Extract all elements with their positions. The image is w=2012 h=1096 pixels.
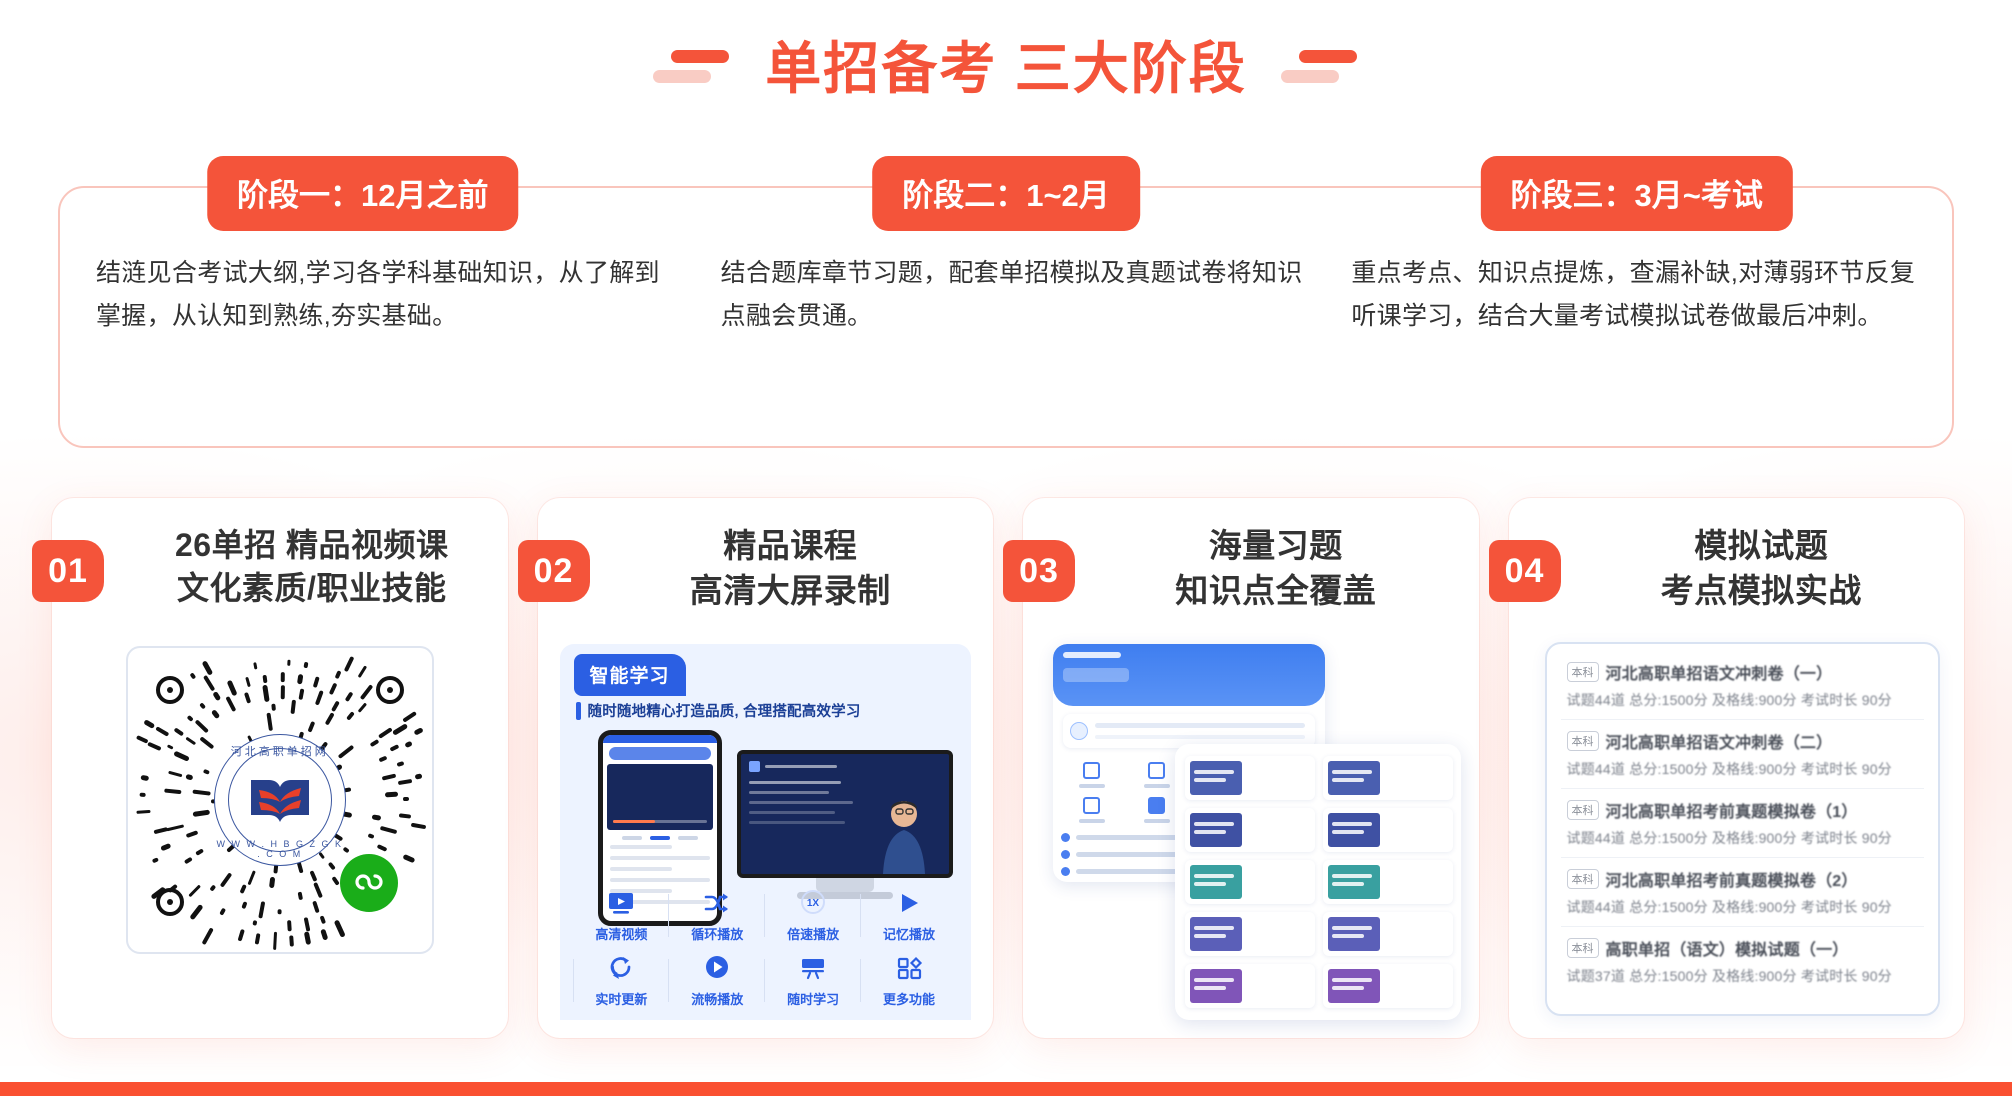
feature-live-update[interactable]: 实时更新 xyxy=(574,953,670,1008)
shortcut-item xyxy=(1059,797,1124,823)
promo-page: 单招备考 三大阶段 阶段一：12月之前 结涟见合考试大纲,学习各学科基础知识，从… xyxy=(0,0,2012,1096)
qr-brand-url: W W W . H B G Z G K . C O M xyxy=(215,839,345,859)
paper-meta: 试题44道 总分:1500分 及格线:900分 考试时长 90分 xyxy=(1567,759,1919,779)
feature-label: 更多功能 xyxy=(883,989,935,1008)
stage-1-pill: 阶段一：12月之前 xyxy=(207,156,518,231)
speed-1x-icon: 1X xyxy=(798,888,828,918)
phone-statusbar xyxy=(603,735,717,743)
feature-card-01[interactable]: 01 26单招 精品视频课 文化素质/职业技能 河北高职单招网 W W W . … xyxy=(52,498,508,1038)
card-03-line1: 海量习题 xyxy=(1209,527,1343,564)
list-icon xyxy=(1083,762,1100,779)
stage-item-2: 阶段二：1~2月 结合题库章节习题，配套单招模拟及真题试卷将知识点融会贯通。 xyxy=(691,188,1322,446)
paper-thumbnail xyxy=(1190,969,1242,1003)
promo-subtitle: 随时随地精心打造品质, 合理搭配高效学习 xyxy=(588,700,861,721)
stage-3-pill: 阶段三：3月~考试 xyxy=(1481,156,1793,231)
paper-level-tag: 本科 xyxy=(1567,869,1599,889)
feature-smooth-play[interactable]: 流畅播放 xyxy=(669,953,765,1008)
feature-label: 流畅播放 xyxy=(691,989,743,1008)
paper-meta: 试题37道 总分:1500分 及格线:900分 考试时长 90分 xyxy=(1567,966,1919,986)
paper-thumbnail xyxy=(1190,865,1242,899)
promo-subtitle-row: 随时随地精心打造品质, 合理搭配高效学习 xyxy=(576,700,964,721)
feature-label: 随时学习 xyxy=(787,989,839,1008)
double-dash-decoration-left xyxy=(653,44,731,86)
footer-accent-bar xyxy=(0,1082,2012,1096)
card-01-line2: 文化素质/职业技能 xyxy=(126,567,498,610)
exam-paper-cell xyxy=(1185,756,1315,800)
hd-video-icon xyxy=(606,888,636,918)
exam-paper-cell xyxy=(1185,912,1315,956)
paper-level-tag: 本科 xyxy=(1567,800,1599,820)
stage-2-description: 结合题库章节习题，配套单招模拟及真题试卷将知识点融会贯通。 xyxy=(721,252,1304,338)
library-icon xyxy=(1083,797,1100,814)
card-02-line2: 高清大屏录制 xyxy=(604,569,978,614)
note-icon xyxy=(1148,762,1165,779)
feature-loop-play[interactable]: 循环播放 xyxy=(669,888,765,943)
stage-item-3: 阶段三：3月~考试 重点考点、知识点提炼，查漏补缺,对薄弱环节反复听课学习，结合… xyxy=(1321,188,1952,446)
feature-card-02[interactable]: 02 精品课程 高清大屏录制 智能学习 随时随地精心打造品质, 合理搭配高效学习 xyxy=(538,498,994,1038)
dot-square-icon xyxy=(1148,797,1165,814)
exam-paper-cell xyxy=(1185,964,1315,1008)
paper-level-tag: 本科 xyxy=(1567,938,1599,958)
slide-icon xyxy=(749,761,760,772)
open-book-logo-icon xyxy=(249,776,311,824)
card-04-line2: 考点模拟实战 xyxy=(1575,569,1949,614)
card-02-heading: 精品课程 高清大屏录制 xyxy=(604,524,978,613)
feature-label: 实时更新 xyxy=(595,989,647,1008)
feature-label: 高清视频 xyxy=(595,924,647,943)
card-02-number: 02 xyxy=(518,540,590,602)
feature-label: 循环播放 xyxy=(691,924,743,943)
qr-center-ring: 河北高职单招网 W W W . H B G Z G K . C O M xyxy=(214,734,346,866)
paper-thumbnail xyxy=(1328,813,1380,847)
card-04-number: 04 xyxy=(1489,540,1561,602)
phone-video-progress xyxy=(613,820,707,823)
paper-thumbnail xyxy=(1190,917,1242,951)
card-02-line1: 精品课程 xyxy=(723,527,857,564)
exam-paper-grid-panel xyxy=(1175,744,1461,1020)
exam-paper-cell xyxy=(1185,860,1315,904)
qr-code[interactable]: 河北高职单招网 W W W . H B G Z G K . C O M xyxy=(126,646,434,954)
page-header: 单招备考 三大阶段 xyxy=(0,24,2012,105)
paper-thumbnail xyxy=(1190,761,1242,795)
monitor-mockup xyxy=(737,750,953,899)
card-01-number: 01 xyxy=(32,540,104,602)
qr-eye-top-right xyxy=(376,676,404,704)
play-circle-icon xyxy=(702,953,732,983)
mock-paper-list: 本科 河北高职单招语文冲刺卷（一） 试题44道 总分:1500分 及格线:900… xyxy=(1545,642,1941,1016)
question-bank-app-screenshot xyxy=(1047,638,1461,1020)
list-item[interactable]: 本科 河北高职单招考前真题模拟卷（1） 试题44道 总分:1500分 及格线:9… xyxy=(1561,798,1925,858)
card-03-heading: 海量习题 知识点全覆盖 xyxy=(1089,524,1463,613)
double-dash-decoration-right xyxy=(1281,44,1359,86)
feature-icon-grid: 高清视频 循环播放 xyxy=(574,888,958,1008)
app-promo-panel: 智能学习 随时随地精心打造品质, 合理搭配高效学习 xyxy=(560,644,972,1020)
teacher-figure-icon xyxy=(873,796,935,874)
stage-2-pill: 阶段二：1~2月 xyxy=(872,156,1140,231)
accent-bar-icon xyxy=(576,702,581,720)
paper-name: 河北高职单招考前真题模拟卷（1） xyxy=(1606,798,1858,822)
feature-label: 记忆播放 xyxy=(883,924,935,943)
list-item[interactable]: 本科 高职单招（语文）模拟试题（一） 试题37道 总分:1500分 及格线:90… xyxy=(1561,936,1925,995)
svg-text:1X: 1X xyxy=(807,898,820,909)
page-title: 单招备考 三大阶段 xyxy=(765,24,1247,105)
bullet-icon xyxy=(1061,850,1070,859)
paper-name: 河北高职单招语文冲刺卷（二） xyxy=(1606,729,1833,753)
qr-brand-name: 河北高职单招网 xyxy=(215,743,345,759)
monitor-screen xyxy=(737,750,953,878)
card-03-number: 03 xyxy=(1003,540,1075,602)
feature-cards: 01 26单招 精品视频课 文化素质/职业技能 河北高职单招网 W W W . … xyxy=(52,498,1964,1038)
feature-hd-video[interactable]: 高清视频 xyxy=(574,888,670,943)
paper-meta: 试题44道 总分:1500分 及格线:900分 考试时长 90分 xyxy=(1567,690,1919,710)
paper-level-tag: 本科 xyxy=(1567,731,1599,751)
feature-more[interactable]: 更多功能 xyxy=(861,953,957,1008)
wechat-miniprogram-badge-icon xyxy=(340,854,398,912)
phone-video-player xyxy=(607,764,713,830)
study-progress-row xyxy=(1063,714,1315,748)
phone-tabs xyxy=(603,830,717,843)
exam-paper-cell xyxy=(1185,808,1315,852)
card-03-line2: 知识点全覆盖 xyxy=(1089,569,1463,614)
paper-thumbnail xyxy=(1328,969,1380,1003)
play-triangle-icon xyxy=(894,888,924,918)
feature-card-04[interactable]: 04 模拟试题 考点模拟实战 本科 河北高职单招语文冲刺卷（一） 试题44道 总… xyxy=(1509,498,1965,1038)
card-04-art: 本科 河北高职单招语文冲刺卷（一） 试题44道 总分:1500分 及格线:900… xyxy=(1523,638,1951,1020)
qr-eye-top-left xyxy=(156,676,184,704)
list-item[interactable]: 本科 河北高职单招考前真题模拟卷（2） 试题44道 总分:1500分 及格线:9… xyxy=(1561,867,1925,927)
paper-meta: 试题44道 总分:1500分 及格线:900分 考试时长 90分 xyxy=(1567,828,1919,848)
paper-thumbnail xyxy=(1328,917,1380,951)
list-item[interactable]: 本科 河北高职单招语文冲刺卷（一） 试题44道 总分:1500分 及格线:900… xyxy=(1561,660,1925,720)
feature-anytime-study[interactable]: 随时学习 xyxy=(765,953,861,1008)
feature-memory-play[interactable]: 记忆播放 xyxy=(861,888,957,943)
exam-paper-cell xyxy=(1323,808,1453,852)
pencil-avatar-icon xyxy=(1070,722,1088,740)
feature-card-03[interactable]: 03 海量习题 知识点全覆盖 xyxy=(1023,498,1479,1038)
screen-icon xyxy=(798,953,828,983)
paper-name: 高职单招（语文）模拟试题（一） xyxy=(1606,936,1849,960)
card-01-heading: 26单招 精品视频课 文化素质/职业技能 xyxy=(126,524,498,610)
qr-eye-bottom-left xyxy=(156,888,184,916)
feature-label: 倍速播放 xyxy=(787,924,839,943)
paper-meta: 试题44道 总分:1500分 及格线:900分 考试时长 90分 xyxy=(1567,897,1919,917)
bullet-icon xyxy=(1061,867,1070,876)
phone-search-bar xyxy=(609,747,711,760)
stage-item-1: 阶段一：12月之前 结涟见合考试大纲,学习各学科基础知识，从了解到掌握，从认知到… xyxy=(60,188,691,446)
paper-thumbnail xyxy=(1328,865,1380,899)
card-04-line1: 模拟试题 xyxy=(1694,527,1828,564)
paper-thumbnail xyxy=(1328,761,1380,795)
exam-paper-grid xyxy=(1185,756,1453,1008)
exam-paper-cell xyxy=(1323,756,1453,800)
paper-level-tag: 本科 xyxy=(1567,662,1599,682)
app-hero-banner xyxy=(1053,644,1325,706)
stage-3-description: 重点考点、知识点提炼，查漏补缺,对薄弱环节反复听课学习，结合大量考试模拟试卷做最… xyxy=(1351,252,1934,338)
card-01-line1: 26单招 精品视频课 xyxy=(175,527,449,563)
stage-1-description: 结涟见合考试大纲,学习各学科基础知识，从了解到掌握，从认知到熟练,夯实基础。 xyxy=(96,252,673,338)
shortcut-item xyxy=(1059,762,1124,788)
bullet-icon xyxy=(1061,833,1070,842)
grid-more-icon xyxy=(894,953,924,983)
feature-speed-play[interactable]: 1X 倍速播放 xyxy=(765,888,861,943)
exam-paper-cell xyxy=(1323,964,1453,1008)
paper-thumbnail xyxy=(1190,813,1242,847)
paper-name: 河北高职单招考前真题模拟卷（2） xyxy=(1606,867,1858,891)
card-02-art: 智能学习 随时随地精心打造品质, 合理搭配高效学习 xyxy=(552,638,980,1020)
list-item[interactable]: 本科 河北高职单招语文冲刺卷（二） 试题44道 总分:1500分 及格线:900… xyxy=(1561,729,1925,789)
paper-name: 河北高职单招语文冲刺卷（一） xyxy=(1606,660,1833,684)
promo-tab-label: 智能学习 xyxy=(574,654,686,696)
card-01-art: 河北高职单招网 W W W . H B G Z G K . C O M xyxy=(66,638,494,1020)
refresh-icon xyxy=(606,953,636,983)
exam-paper-cell xyxy=(1323,912,1453,956)
shuffle-loop-icon xyxy=(702,888,732,918)
exam-paper-cell xyxy=(1323,860,1453,904)
card-04-heading: 模拟试题 考点模拟实战 xyxy=(1575,524,1949,613)
stages-panel: 阶段一：12月之前 结涟见合考试大纲,学习各学科基础知识，从了解到掌握，从认知到… xyxy=(58,186,1954,448)
card-03-art xyxy=(1037,638,1465,1020)
